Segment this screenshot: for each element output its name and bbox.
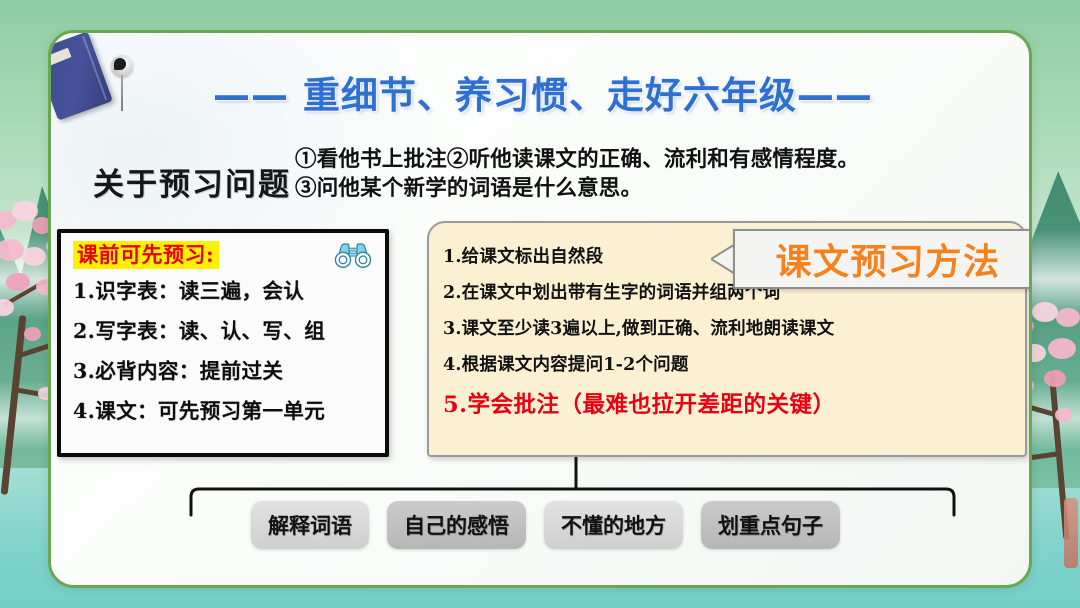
list-item-highlighted: 5.学会批注（最难也拉开差距的关键） [443, 383, 1013, 427]
subtitle-label: 关于预习问题 [93, 145, 291, 204]
list-item: 3.必背内容：提前过关 [73, 351, 375, 391]
callout-body: 课文预习方法 [733, 229, 1032, 289]
subtitle-line: ③问他某个新学的词语是什么意思。 [295, 174, 859, 203]
page-title: —— 重细节、养习惯、走好六年级—— [51, 65, 1032, 119]
annotation-chips-row: 解释词语 自己的感悟 不懂的地方 划重点句子 [251, 501, 981, 549]
callout-title-text: 课文预习方法 [775, 233, 1000, 285]
subtitle-line: ①看他书上批注②听他读课文的正确、流利和有感情程度。 [295, 145, 859, 174]
list-item: 4.根据课文内容提问1-2个问题 [443, 347, 1013, 383]
list-item: 1.识字表：读三遍，会认 [73, 271, 375, 311]
list-item: 4.课文：可先预习第一单元 [73, 391, 375, 431]
slide-card: —— 重细节、养习惯、走好六年级—— 关于预习问题 ①看他书上批注②听他读课文的… [48, 30, 1032, 588]
left-box-header: 课前可先预习: [73, 241, 219, 269]
subtitle-row: 关于预习问题 ①看他书上批注②听他读课文的正确、流利和有感情程度。 ③问他某个新… [93, 145, 1013, 204]
chip-explain-words[interactable]: 解释词语 [251, 501, 369, 549]
callout-title-badge: 课文预习方法 [711, 229, 1032, 289]
chip-unclear-parts[interactable]: 不懂的地方 [544, 501, 683, 549]
chip-own-thoughts[interactable]: 自己的感悟 [387, 501, 526, 549]
list-item: 3.课文至少读3遍以上,做到正确、流利地朗读课文 [443, 311, 1013, 347]
chip-key-sentences[interactable]: 划重点句子 [701, 501, 840, 549]
pre-class-preview-box: 课前可先预习: 1.识字表：读三遍，会认 2.写字表：读、认、写、组 3.必背内… [57, 229, 389, 457]
scroll-ornament [1064, 498, 1078, 568]
list-item: 2.写字表：读、认、写、组 [73, 311, 375, 351]
binoculars-icon [333, 239, 373, 269]
left-box-header-row: 课前可先预习: [73, 241, 375, 271]
subtitle-items: ①看他书上批注②听他读课文的正确、流利和有感情程度。 ③问他某个新学的词语是什么… [295, 145, 859, 203]
